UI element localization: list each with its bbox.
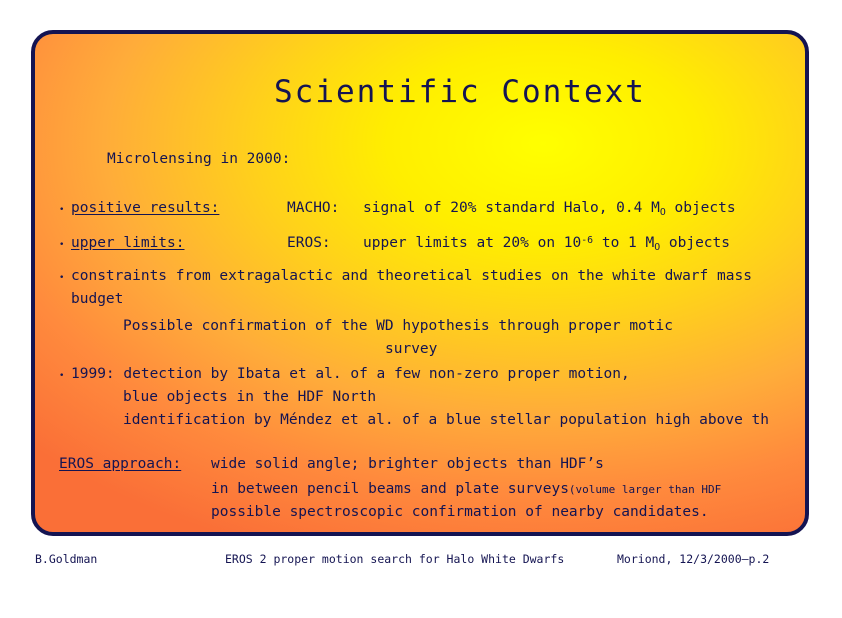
bullet-1-text-after: objects: [666, 200, 736, 216]
eros-approach-line-2: in between pencil beams and plate survey…: [211, 482, 721, 497]
constraints-line-2: budget: [71, 292, 123, 307]
eros-approach-line-1: wide solid angle; brighter objects than …: [211, 457, 604, 472]
footer-event: Moriond, 12/3/2000–p.2: [617, 552, 769, 566]
section-heading: Microlensing in 2000:: [107, 152, 290, 167]
possible-line-1: Possible confirmation of the WD hypothes…: [123, 319, 673, 334]
bullet-2-label: upper limits:: [71, 236, 185, 251]
slide-page: Scientific Context Microlensing in 2000:…: [0, 0, 842, 595]
bullet-2-text-before: upper limits at 20% on 10: [363, 235, 581, 251]
bullet-dot-icon: •: [59, 206, 64, 215]
bullet-2-text: upper limits at 20% on 10-6 to 1 MO obje…: [363, 236, 730, 253]
bullet-dot-icon: •: [59, 241, 64, 250]
eros-approach-label: EROS approach:: [59, 457, 181, 472]
slide-frame: Scientific Context Microlensing in 2000:…: [31, 30, 809, 536]
footer: B.Goldman EROS 2 proper motion search fo…: [0, 548, 842, 572]
detection-line-1: 1999: detection by Ibata et al. of a few…: [71, 367, 630, 382]
bullet-1-source: MACHO:: [287, 201, 339, 216]
possible-line-2: survey: [385, 342, 437, 357]
slide-content: Scientific Context Microlensing in 2000:…: [35, 34, 805, 532]
eros-approach-line-3: possible spectroscopic confirmation of n…: [211, 505, 709, 520]
slide-body: Microlensing in 2000: • positive results…: [35, 34, 805, 532]
bullet-2-text-mid: to 1 M: [593, 235, 654, 251]
footer-title: EROS 2 proper motion search for Halo Whi…: [225, 552, 564, 566]
bullet-2-exponent: -6: [581, 235, 593, 246]
detection-line-3: identification by Méndez et al. of a blu…: [123, 413, 769, 428]
constraints-line-1: constraints from extragalactic and theor…: [71, 269, 752, 284]
eros-line-2-note: (volume larger than HDF: [569, 483, 721, 496]
footer-author: B.Goldman: [35, 552, 97, 566]
eros-line-2-main: in between pencil beams and plate survey…: [211, 481, 569, 497]
detection-line-2: blue objects in the HDF North: [123, 390, 376, 405]
bullet-1-text: signal of 20% standard Halo, 0.4 MO obje…: [363, 201, 736, 218]
bullet-dot-icon: •: [59, 274, 64, 283]
bullet-dot-icon: •: [59, 372, 64, 381]
bullet-1-text-before: signal of 20% standard Halo, 0.4 M: [363, 200, 660, 216]
bullet-2-text-after: objects: [660, 235, 730, 251]
bullet-1-label: positive results:: [71, 201, 219, 216]
bullet-2-source: EROS:: [287, 236, 331, 251]
